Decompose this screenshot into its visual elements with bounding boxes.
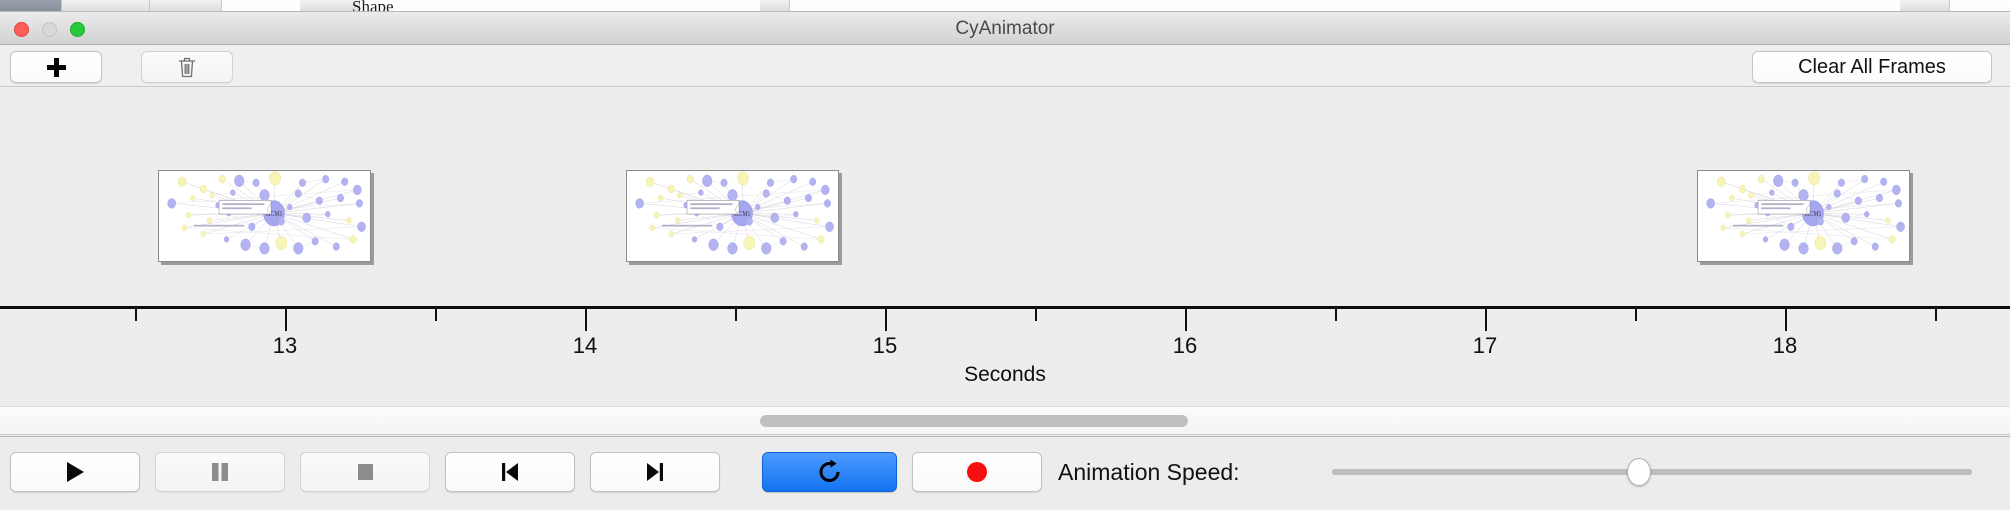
delete-frame-button[interactable] bbox=[141, 51, 233, 83]
pause-button[interactable] bbox=[155, 452, 285, 492]
axis-title: Seconds bbox=[0, 363, 2010, 387]
timeline-scrollbar[interactable] bbox=[0, 406, 2010, 435]
title-bar: CyAnimator bbox=[0, 12, 2010, 45]
frame-strip[interactable]: MCM1MCM1MCM1 bbox=[0, 88, 2010, 306]
timeline-ruler[interactable]: Seconds 12131415161718 bbox=[0, 306, 2010, 406]
ruler-tick-major bbox=[1785, 309, 1787, 331]
pause-icon bbox=[209, 460, 231, 484]
ruler-tick-minor bbox=[1035, 309, 1037, 321]
clear-all-frames-button[interactable]: Clear All Frames bbox=[1752, 51, 1992, 83]
slider-track[interactable] bbox=[1332, 469, 1972, 475]
ruler-tick-major bbox=[1185, 309, 1187, 331]
ruler-tick-label: 17 bbox=[1473, 333, 1497, 359]
cyanimator-window: Shape CyAnimator Clear All Frames MCM1MC… bbox=[0, 0, 2010, 510]
ruler-tick-major bbox=[1485, 309, 1487, 331]
skip-backward-button[interactable] bbox=[445, 452, 575, 492]
window-title: CyAnimator bbox=[0, 12, 2010, 45]
ruler-tick-label: 16 bbox=[1173, 333, 1197, 359]
animation-speed-label: Animation Speed: bbox=[1058, 452, 1240, 492]
background-window: Shape bbox=[0, 0, 2010, 12]
loop-button[interactable] bbox=[762, 452, 897, 492]
record-icon bbox=[964, 459, 990, 485]
playback-bar: Animation Speed: bbox=[0, 436, 2010, 510]
slider-knob[interactable] bbox=[1627, 458, 1651, 486]
timeline-frame[interactable]: MCM1 bbox=[626, 170, 839, 262]
record-button[interactable] bbox=[912, 452, 1042, 492]
toolbar: Clear All Frames bbox=[0, 45, 2010, 87]
ruler-tick-minor bbox=[135, 309, 137, 321]
skip-forward-icon bbox=[643, 460, 667, 484]
ruler-tick-label: 13 bbox=[273, 333, 297, 359]
play-icon bbox=[64, 460, 86, 484]
bg-chip bbox=[1900, 0, 1950, 12]
bg-chip bbox=[62, 0, 150, 12]
stop-button[interactable] bbox=[300, 452, 430, 492]
skip-forward-button[interactable] bbox=[590, 452, 720, 492]
ruler-tick-major bbox=[885, 309, 887, 331]
bg-chip bbox=[150, 0, 222, 12]
plus-icon bbox=[47, 58, 66, 77]
ruler-tick-minor bbox=[1635, 309, 1637, 321]
timeline-scrollbar-thumb[interactable] bbox=[760, 415, 1188, 427]
animation-speed-slider[interactable] bbox=[1332, 452, 1972, 492]
add-frame-button[interactable] bbox=[10, 51, 102, 83]
ruler-tick-major bbox=[285, 309, 287, 331]
ruler-tick-label: 14 bbox=[573, 333, 597, 359]
loop-icon bbox=[817, 459, 843, 485]
ruler-tick-major bbox=[585, 309, 587, 331]
timeline-frame[interactable]: MCM1 bbox=[158, 170, 371, 262]
bg-chip bbox=[0, 0, 62, 12]
bg-chip bbox=[300, 0, 360, 12]
ruler-tick-minor bbox=[435, 309, 437, 321]
trash-icon bbox=[178, 56, 196, 78]
bg-chip bbox=[760, 0, 790, 12]
timeline-frame[interactable]: MCM1 bbox=[1697, 170, 1910, 262]
ruler-tick-label: 15 bbox=[873, 333, 897, 359]
skip-backward-icon bbox=[498, 460, 522, 484]
background-window-title: Shape bbox=[352, 0, 394, 11]
stop-icon bbox=[354, 460, 376, 484]
ruler-tick-minor bbox=[1335, 309, 1337, 321]
ruler-tick-label: 18 bbox=[1773, 333, 1797, 359]
play-button[interactable] bbox=[10, 452, 140, 492]
ruler-tick-minor bbox=[1935, 309, 1937, 321]
ruler-tick-minor bbox=[735, 309, 737, 321]
